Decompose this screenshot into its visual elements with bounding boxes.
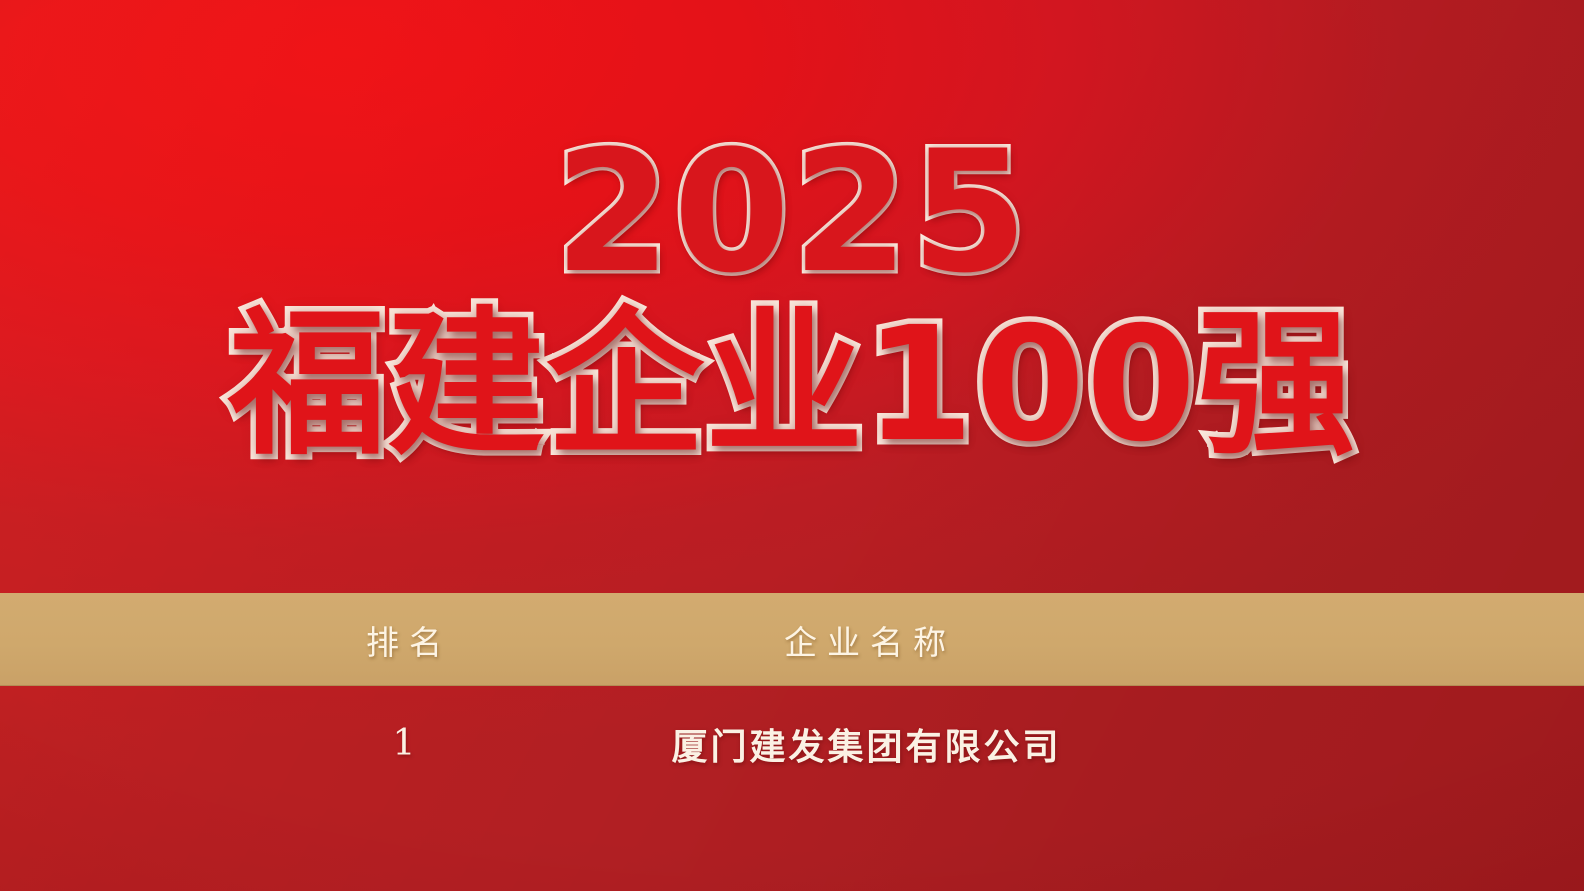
column-header-company-name: 企业名称 xyxy=(640,593,1090,686)
poster-page: 2025 福建企业100强 排名 企业名称 1 厦门建发集团有限公司 xyxy=(0,0,1584,891)
column-header-rank: 排名 xyxy=(298,593,510,686)
table-row[interactable]: 1 厦门建发集团有限公司 xyxy=(0,686,1584,801)
cell-rank: 1 xyxy=(298,686,510,801)
table-body: 1 厦门建发集团有限公司 xyxy=(0,686,1584,891)
poster-headline: 福建企业100强 xyxy=(0,305,1584,466)
table-header-bar: 排名 企业名称 xyxy=(0,593,1584,686)
poster-year: 2025 xyxy=(0,128,1584,296)
hero-title-block: 2025 福建企业100强 xyxy=(0,0,1584,593)
cell-company-name: 厦门建发集团有限公司 xyxy=(640,686,1090,801)
